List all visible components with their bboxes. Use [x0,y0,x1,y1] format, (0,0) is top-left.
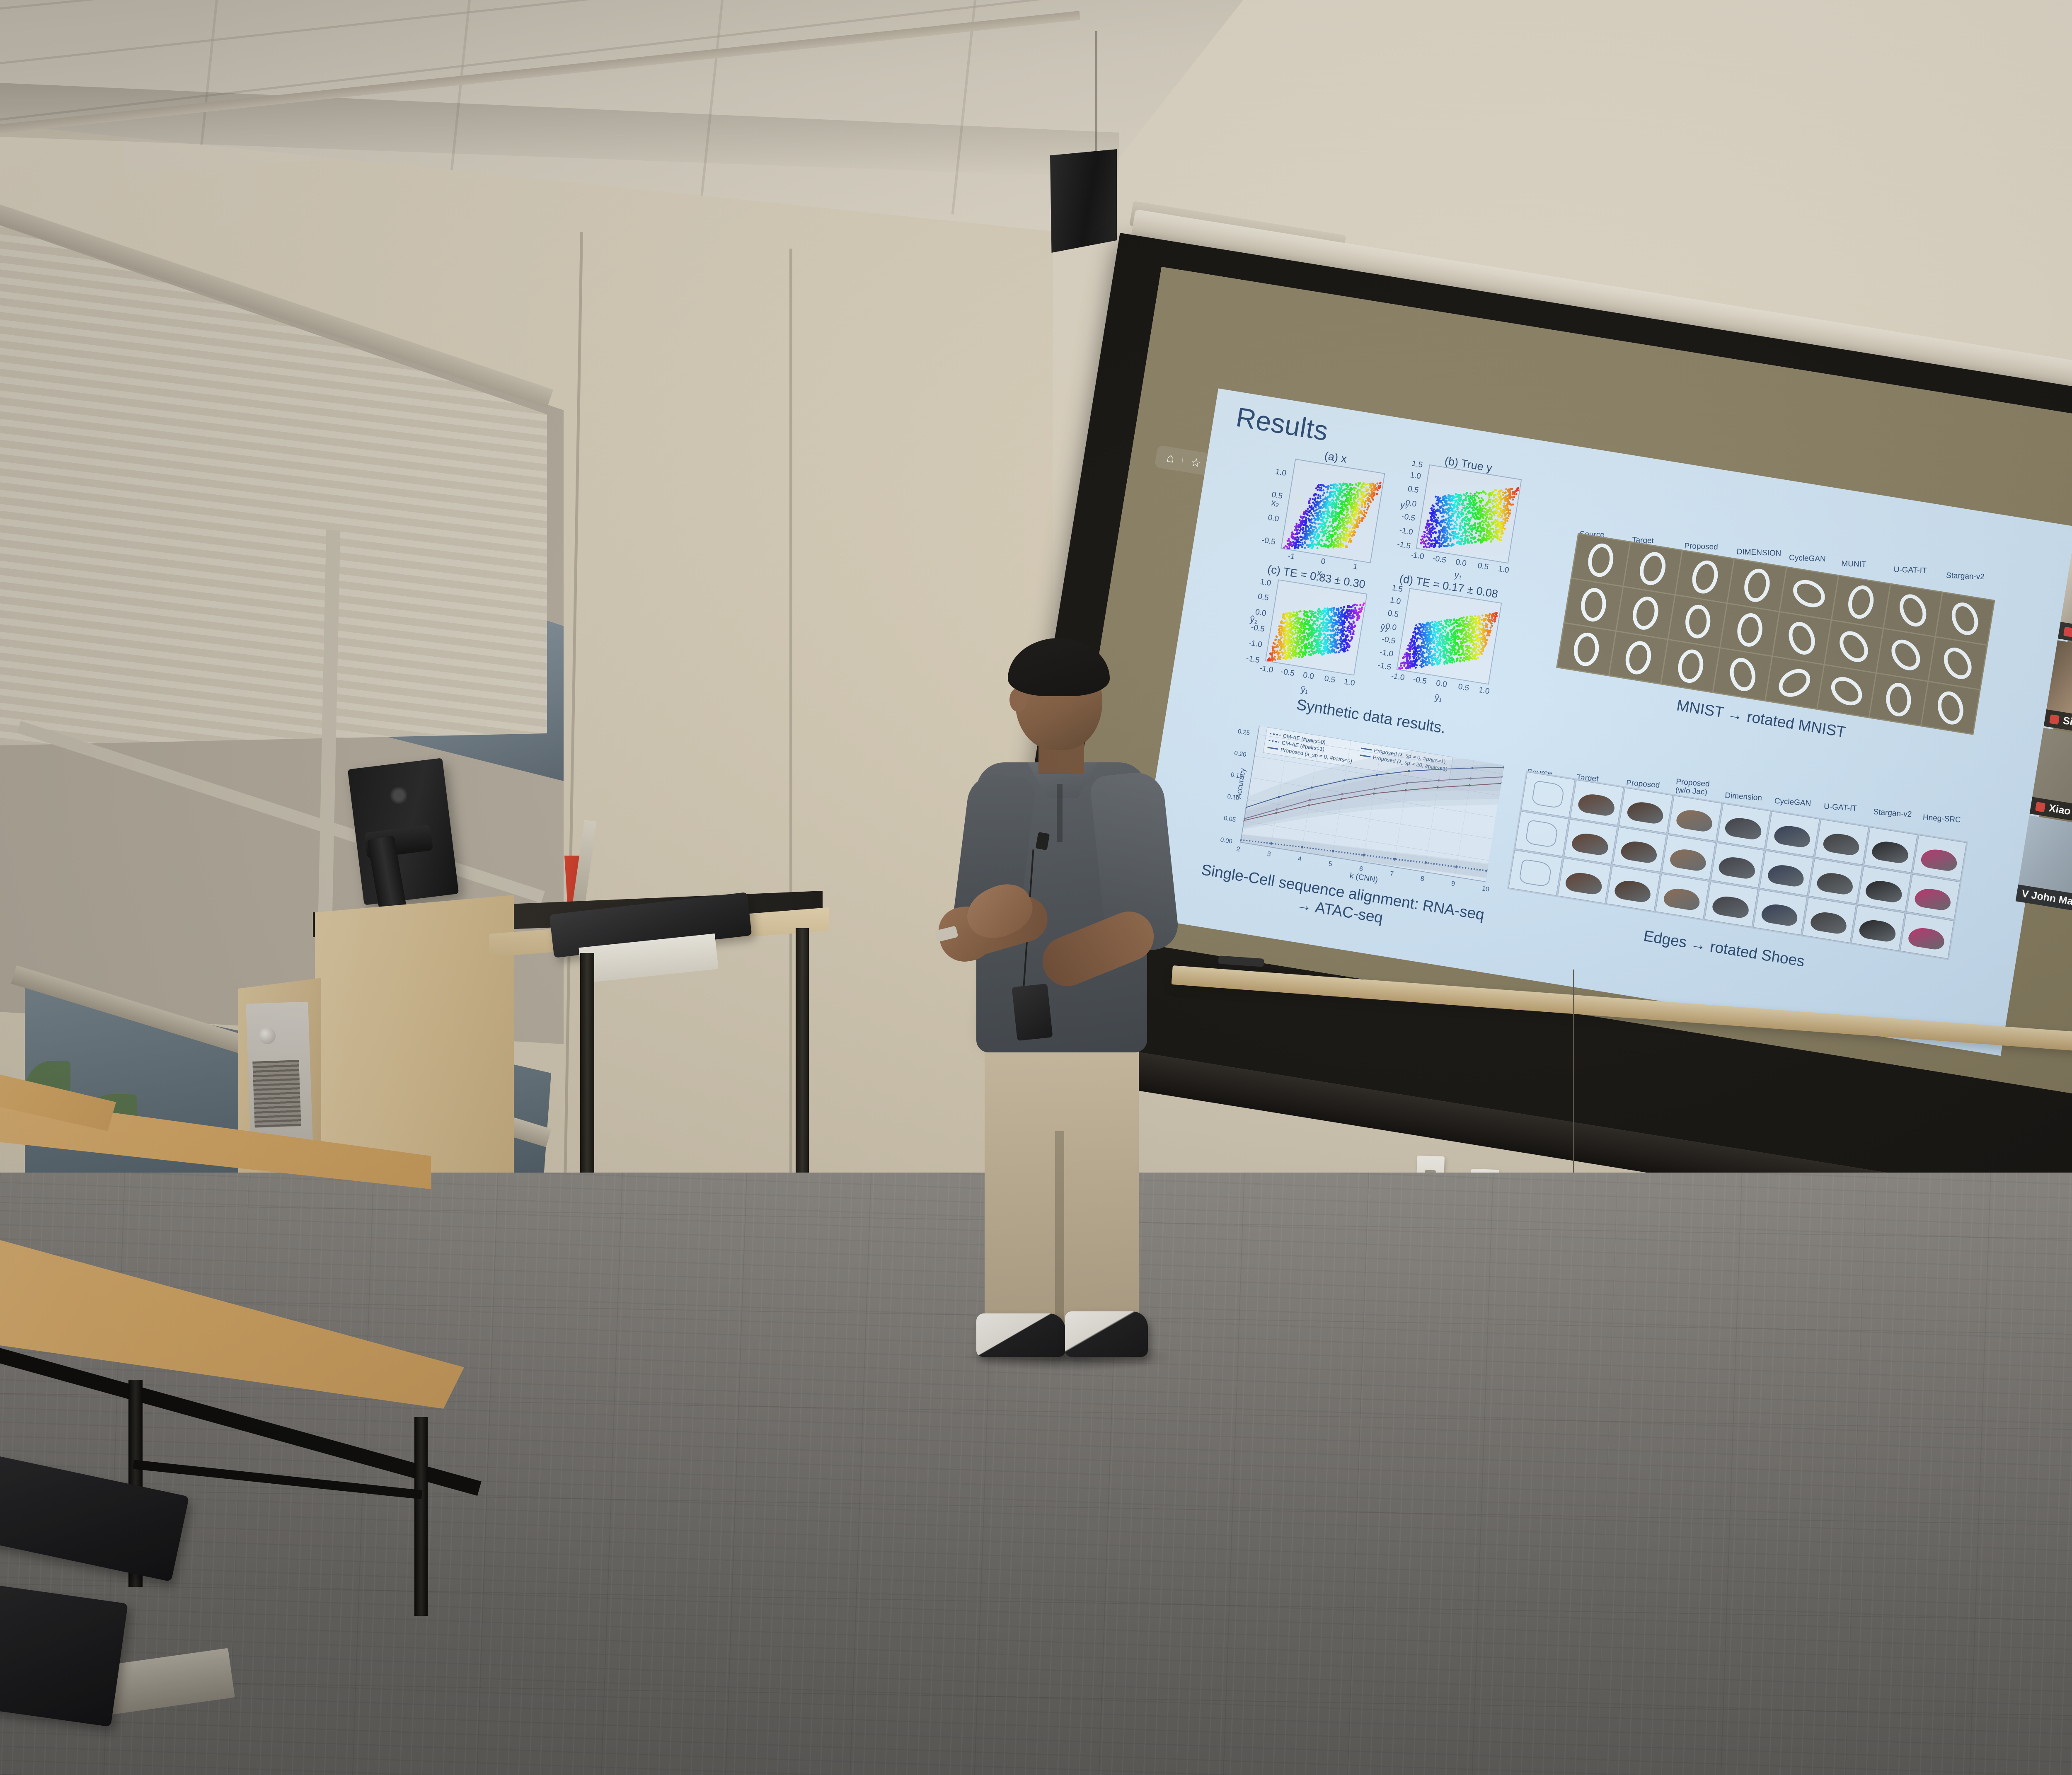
shoes-cell [1900,913,1954,959]
line-chart-xtick-8: 10 [1481,885,1490,894]
mnist-col-3: DIMENSION [1736,548,1781,559]
mnist-cell [1929,637,1986,689]
line-chart-ytick-2: 0.10 [1227,793,1240,802]
mnist-cell [1610,632,1667,683]
scatter-c-xlabel: ŷ₁ [1300,684,1309,696]
chair-2[interactable] [0,1579,128,1727]
presenter-shoe-left [976,1313,1065,1357]
mnist-cell [1565,579,1622,630]
mnist-cell [1818,665,1875,717]
scatter-c-ytick-2: -0.5 [1250,623,1265,634]
scatter-a-xtick-0: -1 [1287,551,1295,561]
scatter-d-ytick-3: 0.0 [1385,622,1397,633]
shoes-cell [1613,827,1667,872]
shoes-cell [1815,819,1869,865]
shoes-cell [1668,796,1722,841]
scatter-c-ytick-4: 0.5 [1257,592,1269,603]
table-leg-2 [414,1417,428,1616]
shoes-cell [1913,835,1967,880]
scatter-d-ytick-6: 1.5 [1391,583,1404,594]
wall-speaker-icon [1044,149,1117,253]
mnist-cell [1832,576,1890,627]
scatter-d-ytick-4: 0.5 [1387,609,1399,620]
shoes-col-5: CycleGAN [1774,797,1811,808]
mnist-cell [1721,604,1778,655]
scatter-c-xtick-4: 1.0 [1343,677,1356,688]
shoes-cell [1662,834,1716,880]
scatter-d-ytick-1: -1.0 [1379,648,1394,659]
shoes-cell [1619,788,1673,833]
line-chart-xtick-5: 7 [1389,870,1394,878]
mnist-cell [1870,674,1927,725]
mnist-cell [1884,585,1941,636]
scatter-d-xtick-2: 0.0 [1435,679,1448,689]
home-icon[interactable]: ⌂ [1166,451,1175,466]
scatter-c-xtick-1: -0.5 [1280,667,1295,678]
classroom-scene: ⌄ ⌂ | ☆ main_gt.pdf × Audio [0,0,2072,1775]
speaker-cable [1095,31,1097,155]
line-chart-ytick-0: 0.00 [1220,836,1233,845]
mnist-cell [1936,593,1994,644]
shoes-cell [1521,772,1575,817]
scatter-c-ytick-3: 0.0 [1254,608,1267,619]
line-chart-xtick-4: 6 [1358,865,1363,873]
shoes-cell [1717,803,1771,849]
shoes-cell [1606,866,1660,912]
line-chart-xtick-7: 9 [1451,880,1456,888]
shoes-grid-block: SourceTargetProposedProposed (w/o Jac)Di… [1505,733,1991,979]
shoes-cell [1851,905,1905,951]
scatter-d-xtick-4: 1.0 [1478,686,1490,696]
scatter-a-ytick-3: 1.0 [1275,467,1287,478]
line-chart-ytick-4: 0.20 [1234,750,1247,758]
scatter-panel-d: (d) TE = 0.17 ± 0.08 ŷ₁ ŷ₂ -1.0 -0.5 0.0… [1366,572,1513,715]
scatter-d-xtick-0: -1.0 [1390,672,1405,683]
mnist-cell [1922,682,1979,733]
scatter-panel-c: (c) TE = 0.83 ± 0.30 ŷ₁ ŷ₂ -1.0 -0.5 0.0… [1236,562,1379,705]
shoes-cell [1857,866,1911,912]
scatter-b-xtick-3: 0.5 [1477,561,1489,572]
mnist-col-6: U-GAT-IT [1893,565,1927,576]
scatter-a-ytick-0: -0.5 [1261,536,1276,547]
scatter-d-ytick-0: -1.5 [1377,661,1392,672]
scatter-b-ytick-2: -0.5 [1401,512,1416,523]
dell-logo-icon [389,786,409,805]
mic-beltpack [1012,984,1053,1041]
mnist-col-5: MUNIT [1841,559,1866,569]
shoes-cell [1656,874,1709,919]
mnist-cell [1780,568,1837,619]
mnist-cell [1825,621,1882,672]
mnist-cell [1617,587,1674,638]
scatter-b-ytick-4: 0.5 [1407,484,1419,495]
scatter-c-xtick-0: -1.0 [1259,664,1274,675]
shoes-cell [1508,850,1562,896]
mnist-cell [1624,543,1682,594]
shoes-cell [1564,819,1617,864]
muted-mic-icon [2035,802,2045,812]
line-chart-xlabel: k (CNN) [1349,871,1378,885]
wall-corner-seam-2 [789,249,792,1185]
mnist-cell [1728,559,1786,611]
mnist-col-4: CycleGAN [1789,554,1826,564]
shoes-cell [1760,850,1813,896]
computer-tower-vent [252,1060,301,1128]
mnist-cell [1669,595,1726,647]
line-chart-series [1240,725,1504,882]
shoes-cell [1515,811,1569,856]
shoes-col-7: Stargan-v2 [1873,808,1912,819]
presenter-pant-seam [1055,1131,1064,1330]
shoes-cell [1557,858,1611,904]
mnist-cell [1558,624,1615,675]
scatter-a-axes [1280,459,1385,563]
scatter-a-ytick-2: 0.5 [1271,490,1283,501]
scatter-b-xtick-4: 1.0 [1497,565,1510,576]
scatter-c-xtick-2: 0.0 [1302,671,1315,682]
line-chart-xtick-6: 8 [1420,875,1425,883]
scatter-c-ytick-0: -1.5 [1245,654,1260,665]
mnist-cell [1572,534,1629,585]
shoes-col-6: U-GAT-IT [1823,803,1857,813]
shoes-cell [1864,827,1918,873]
shoes-cell [1570,780,1624,825]
power-button[interactable] [259,1028,276,1044]
shoes-cell [1704,882,1758,927]
scatter-a-xtick-1: 0 [1320,557,1326,566]
favorite-star-icon[interactable]: ☆ [1190,455,1202,470]
mnist-cell [1877,629,1934,680]
muted-mic-icon [2049,714,2060,724]
scatter-d-xtick-1: -0.5 [1412,675,1427,686]
scatter-c-xtick-3: 0.5 [1324,674,1336,685]
scatter-b-axes [1416,464,1522,563]
scatter-d-ytick-2: -0.5 [1381,635,1396,646]
presenter-shoe-right [1065,1311,1148,1357]
presenter-placket [1057,784,1063,842]
mnist-cell [1766,657,1823,708]
mnist-cell [1714,648,1771,700]
scatter-b-ytick-6: 1.5 [1411,459,1423,470]
scatter-a-ytick-1: 0.0 [1267,513,1280,524]
shoes-col-4: Dimension [1725,791,1762,802]
shoes-cell [1906,874,1960,919]
shoes-cell [1753,890,1807,935]
shoes-cell [1766,811,1820,857]
scatter-c-ytick-5: 1.0 [1259,578,1272,588]
scatter-d-xtick-3: 0.5 [1457,682,1470,693]
scatter-b-ytick-1: -1.0 [1399,526,1414,537]
line-chart-ytick-3: 0.15 [1230,771,1244,780]
mnist-col-7: Stargan-v2 [1946,571,1985,582]
line-chart-xtick-1: 3 [1266,851,1271,858]
scatter-panel-b: (b) True y y₁ y₂ -1.0 -0.5 0.0 0.5 1.0 -… [1386,450,1532,592]
participant-name: V John Mathews [2021,888,2072,913]
screen-pull-cord[interactable] [1573,970,1574,1202]
shoes-cell [1808,858,1862,904]
presenter [903,638,1218,1359]
scatter-b-ytick-0: -1.5 [1397,540,1411,551]
mnist-cell [1676,551,1733,602]
scatter-b-xtick-1: -0.5 [1432,554,1447,565]
scatter-c-ytick-1: -1.0 [1248,638,1263,650]
page-title: Results [1234,401,1331,447]
shoes-cell [1711,842,1765,888]
line-chart-xtick-2: 4 [1297,856,1302,863]
scatter-d-xlabel: ŷ₁ [1434,692,1443,704]
shoes-col-3: Proposed (w/o Jac) [1675,778,1726,798]
shoes-col-8: Hneg-SRC [1922,813,1961,825]
scatter-b-xtick-0: -1.0 [1410,551,1425,562]
shoes-cell [1802,897,1856,943]
line-chart-ytick-5: 0.25 [1237,728,1251,737]
scatter-b-ytick-5: 1.0 [1409,471,1422,481]
participant-name: Xiao Fu [2048,802,2072,820]
scatter-b-xlabel: y₁ [1454,569,1463,581]
line-chart-xtick-3: 5 [1328,861,1333,868]
line-chart-xtick-0: 2 [1236,846,1241,854]
shared-slide: Results 41/44 (a) x x₁ x₂ -1 0 1 -0.5 0.… [1133,389,2072,1056]
mnist-cell [1662,640,1719,692]
participant-name-badge: V John Mathews [2016,885,2072,916]
scatter-c-axes [1265,579,1368,675]
scatter-d-ytick-5: 1.0 [1389,596,1402,607]
scatter-a-xtick-2: 1 [1353,562,1358,572]
scatter-d-axes [1396,588,1502,684]
line-chart-ytick-1: 0.05 [1223,815,1237,823]
mnist-cell [1773,612,1830,664]
scatter-b-ytick-3: 0.0 [1405,498,1417,509]
presenter-hair [1008,638,1110,696]
scatter-b-xtick-2: 0.0 [1455,558,1467,568]
muted-mic-icon [2063,626,2072,637]
